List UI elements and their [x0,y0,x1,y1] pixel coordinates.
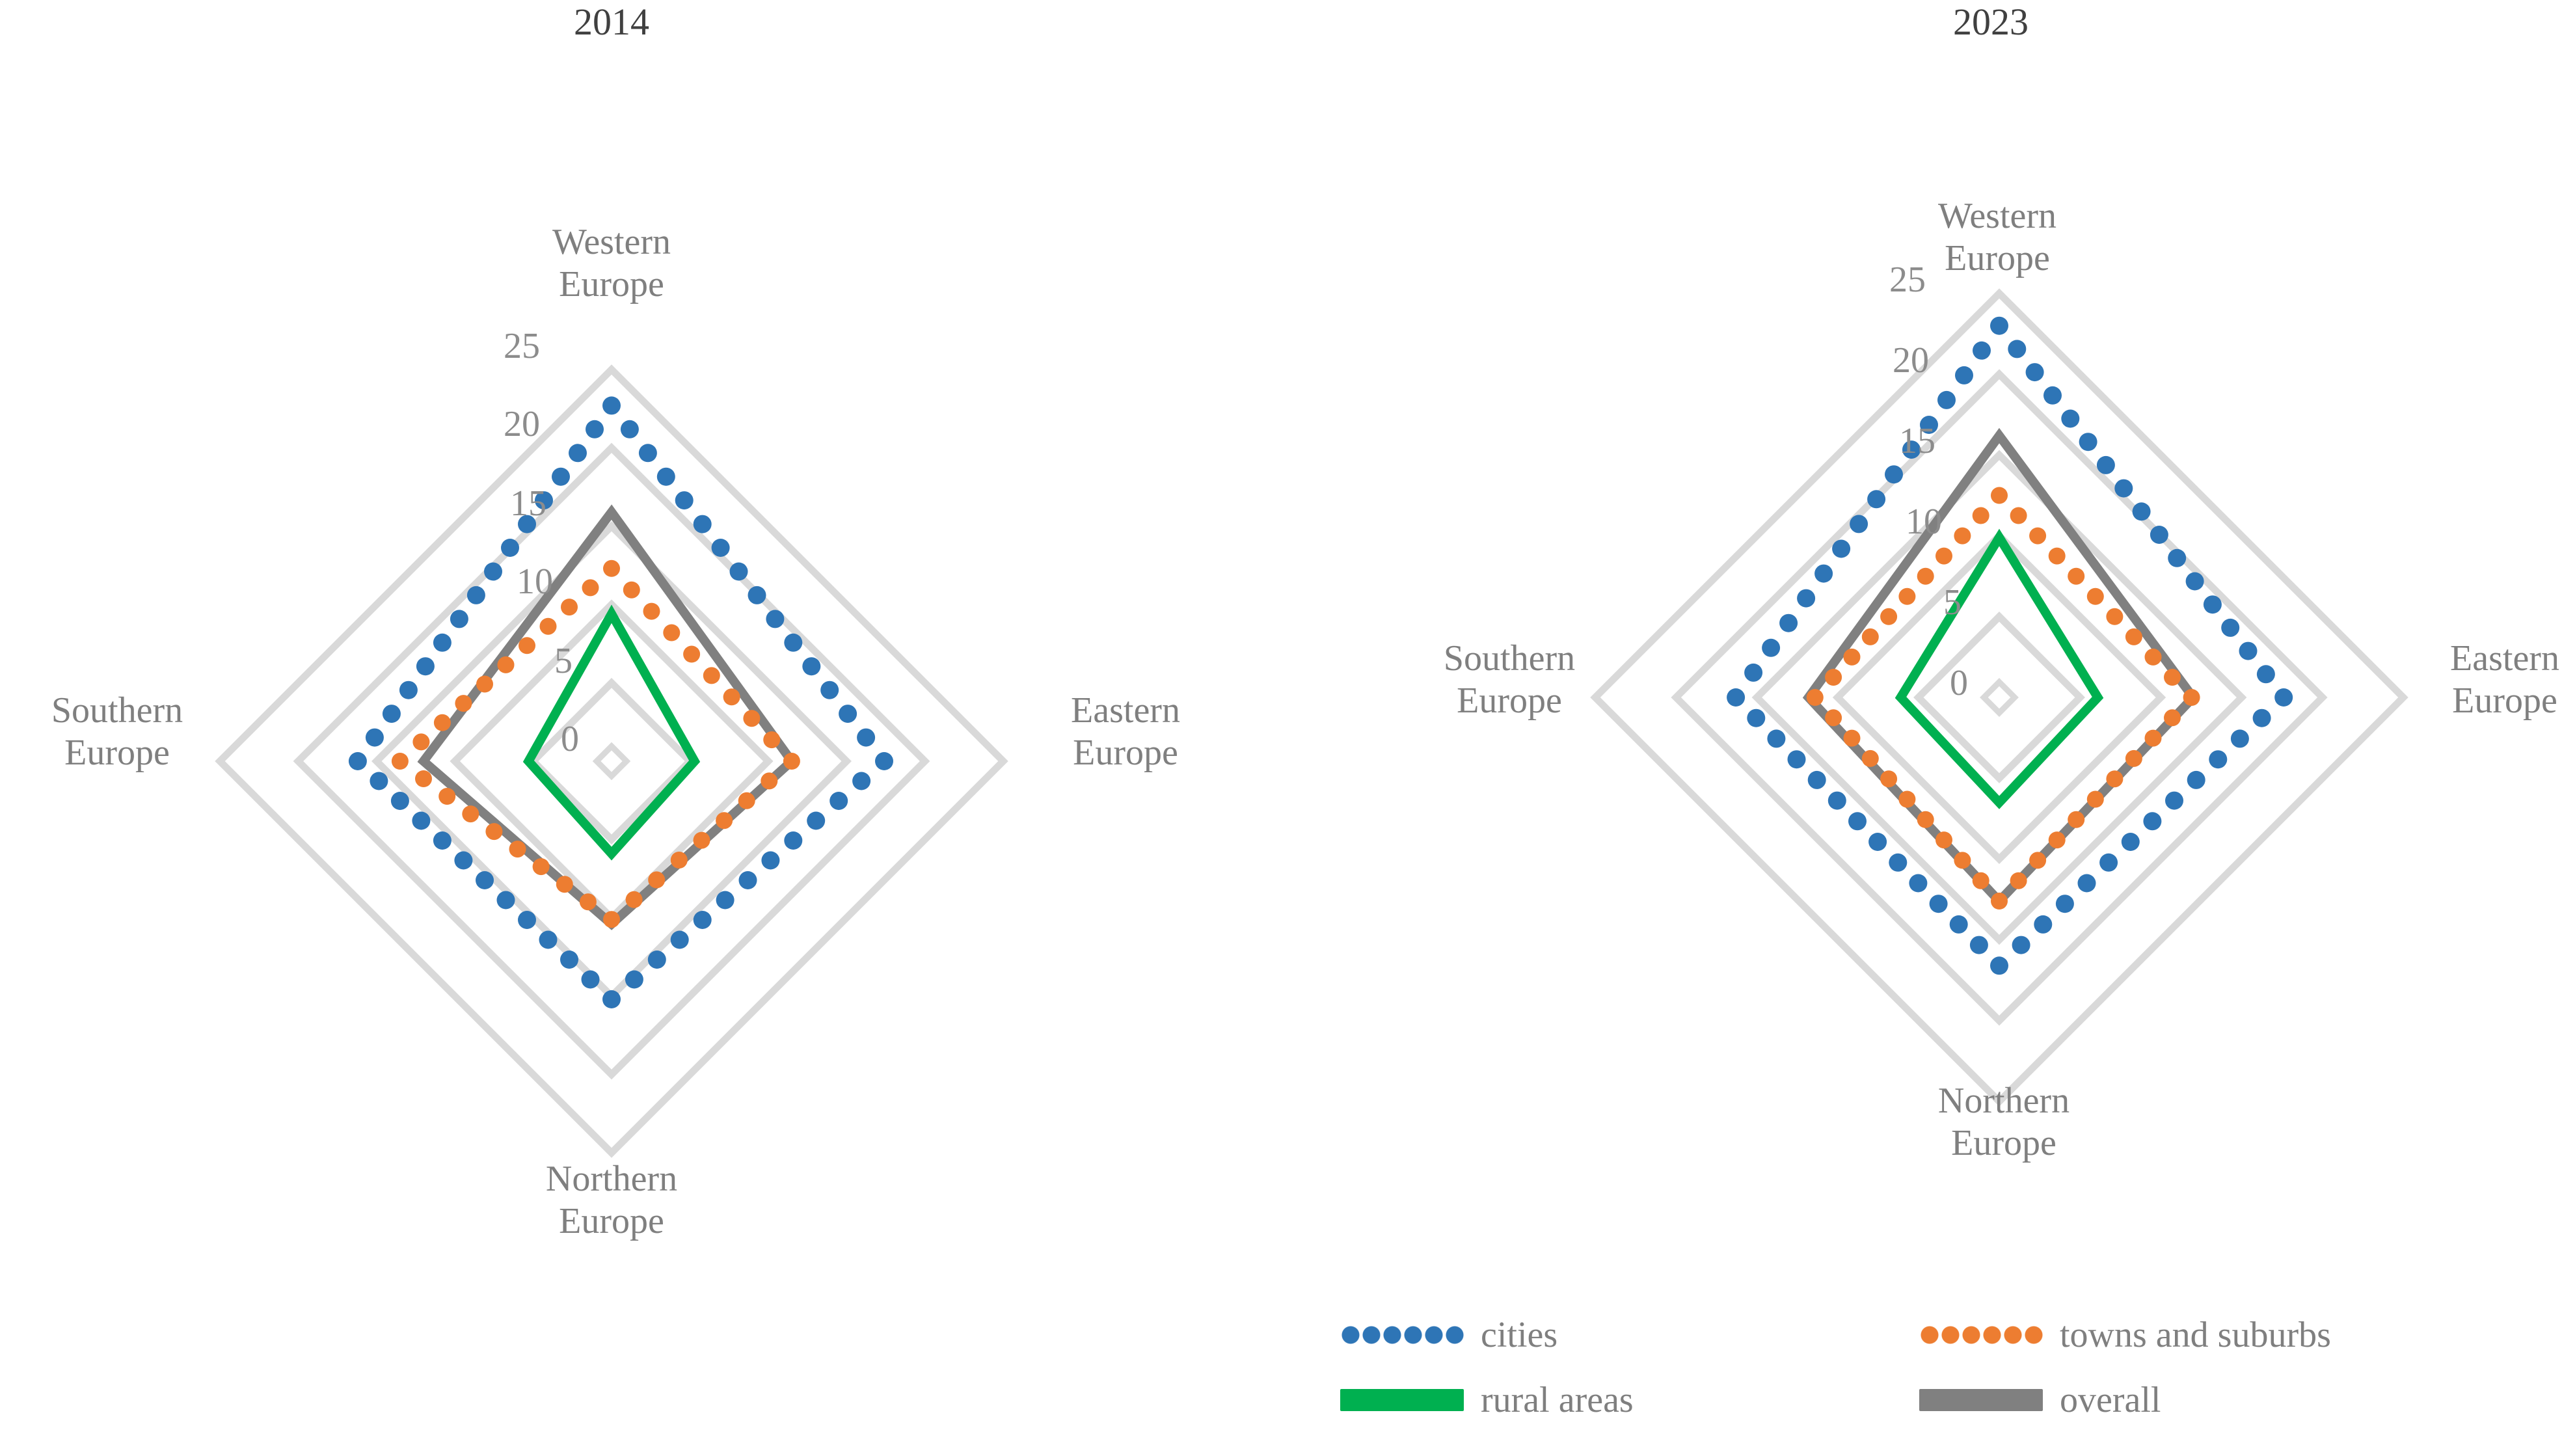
tick-label-20-2023: 20 [1851,340,1929,381]
tick-label-5-2023: 5 [1883,582,1962,623]
grid-ring-15 [1757,455,2241,939]
tick-label-10-2023: 10 [1864,501,1942,543]
radar-figure: 2014 2023 Western Europe Eastern Europe … [0,0,2562,1456]
axis-label-northern-europe-2023: Northern Europe [1854,1080,2153,1165]
tick-label-5-2014: 5 [494,640,573,682]
tick-label-0-2014: 0 [501,718,579,760]
axis-label-northern-europe-2014: Northern Europe [455,1158,768,1243]
tick-label-20-2014: 20 [462,403,540,445]
legend-swatch-overall-icon [1919,1389,2043,1411]
legend-label-rural-areas: rural areas [1481,1379,1634,1421]
tick-label-0-2023: 0 [1890,662,1968,704]
grid-ring-center [1984,682,2014,712]
tick-label-10-2014: 10 [475,561,553,602]
grid-ring-20 [1676,374,2323,1021]
legend-item-overall[interactable]: overall [1919,1379,2161,1421]
tick-label-15-2023: 15 [1857,420,1935,462]
tick-label-25-2014: 25 [462,325,540,367]
axis-label-eastern-europe-2014: Eastern Europe [989,690,1262,774]
panel-title-2014: 2014 [442,0,781,44]
axis-label-southern-europe-2023: Southern Europe [1373,638,1646,722]
legend-item-cities[interactable]: cities [1340,1314,1557,1356]
legend-item-towns-and-suburbs[interactable]: towns and suburbs [1919,1314,2331,1356]
legend-swatch-towns-and-suburbs-icon [1919,1324,2043,1346]
panel-title-2023: 2023 [1822,0,2160,44]
chart-legend: cities towns and suburbs rural areas ove… [1340,1314,2511,1431]
tick-label-25-2023: 25 [1848,259,1926,301]
axis-label-western-europe-2014: Western Europe [455,221,768,306]
grid-ring-center [597,746,627,776]
axis-label-eastern-europe-2023: Eastern Europe [2368,638,2562,722]
legend-swatch-cities-icon [1340,1324,1464,1346]
legend-swatch-rural-areas-icon [1340,1389,1464,1411]
tick-label-15-2014: 15 [468,483,546,524]
axis-label-southern-europe-2014: Southern Europe [0,690,254,774]
legend-item-rural-areas[interactable]: rural areas [1340,1379,1634,1421]
legend-label-towns-and-suburbs: towns and suburbs [2060,1314,2331,1356]
legend-label-cities: cities [1481,1314,1557,1356]
legend-label-overall: overall [2060,1379,2161,1421]
